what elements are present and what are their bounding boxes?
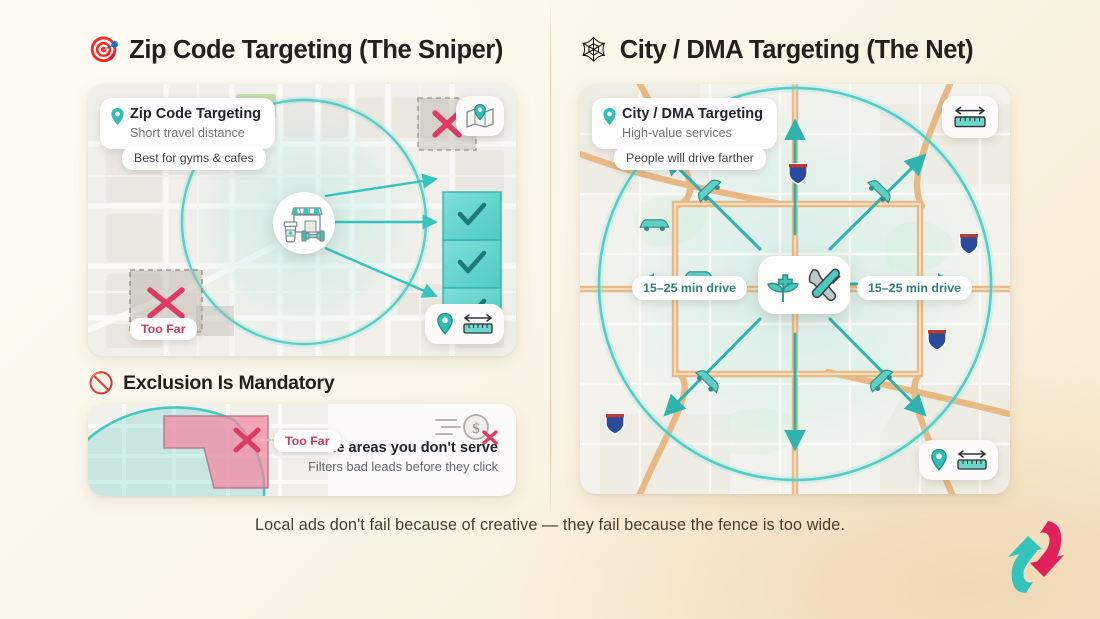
too-far-pill-exclusion: Too Far (274, 430, 341, 452)
dma-label-subtitle: High-value services (622, 126, 763, 140)
money-flying-away-icon: $ (434, 412, 500, 446)
service-icons-card (758, 256, 850, 314)
exclusion-subtext: Filters bad leads before they click (289, 459, 499, 474)
exclusion-card[interactable]: Too Far Exclude areas you don't serve Fi… (88, 404, 516, 496)
right-panel-heading: 🕸 City / DMA Targeting (The Net) (578, 36, 973, 65)
drive-time-pill-right: 15–25 min drive (857, 276, 972, 300)
herbal-medical-cross-icon (764, 266, 802, 304)
ruler-distance-icon (956, 448, 988, 472)
exclusion-subheading: 🚫 Exclusion Is Mandatory (88, 372, 334, 395)
ruler-distance-icon (953, 104, 987, 130)
ruler-distance-icon (462, 312, 494, 336)
prohibited-sign-emoji: 🚫 (88, 373, 114, 394)
exclusion-subheading-text: Exclusion Is Mandatory (123, 372, 334, 395)
dma-label-card: City / DMA Targeting High-value services (592, 98, 777, 149)
two-arrows-logo (996, 515, 1078, 597)
zip-label-card: Zip Code Targeting Short travel distance (100, 98, 275, 149)
wrench-screwdriver-icon (806, 266, 844, 304)
svg-text:$: $ (472, 421, 480, 437)
dart-target-emoji: 🎯 (88, 38, 119, 63)
left-panel-heading: 🎯 Zip Code Targeting (The Sniper) (88, 36, 503, 65)
zip-label-subtitle: Short travel distance (130, 126, 261, 140)
map-legend-badge-bottom-right[interactable] (919, 440, 998, 480)
drive-time-pill-left: 15–25 min drive (632, 276, 747, 300)
map-pin-icon (435, 312, 455, 336)
map-with-pin-icon (465, 103, 495, 129)
left-panel-title: Zip Code Targeting (The Sniper) (129, 36, 503, 65)
business-icons-disc (273, 192, 335, 254)
dma-label-chip: People will drive farther (614, 146, 766, 170)
map-pin-icon (929, 448, 949, 472)
map-legend-badge-top-right[interactable] (942, 96, 998, 138)
footer-caption: Local ads don't fail because of creative… (0, 516, 1100, 535)
zip-label-chip: Best for gyms & cafes (122, 146, 266, 170)
city-dma-map-card[interactable]: City / DMA Targeting High-value services… (580, 84, 1010, 494)
map-legend-badge-left[interactable] (425, 304, 504, 344)
map-with-pin-badge[interactable] (456, 96, 504, 136)
zip-label-stack: Zip Code Targeting Short travel distance… (100, 98, 275, 170)
map-pin-icon (111, 108, 124, 125)
dma-label-title: City / DMA Targeting (622, 106, 763, 123)
infographic-canvas: 🎯 Zip Code Targeting (The Sniper) 🕸 City… (0, 0, 1100, 619)
storefront-coffee-dumbbell-icons (281, 203, 327, 243)
zip-code-map-card[interactable]: Zip Code Targeting Short travel distance… (88, 84, 516, 356)
spider-web-emoji: 🕸 (578, 38, 610, 63)
map-pin-icon (603, 108, 616, 125)
dma-label-stack: City / DMA Targeting High-value services… (592, 98, 777, 170)
zip-label-title: Zip Code Targeting (130, 106, 261, 123)
panel-divider (550, 0, 551, 519)
too-far-pill-map: Too Far (130, 318, 197, 340)
right-panel-title: City / DMA Targeting (The Net) (620, 36, 974, 65)
